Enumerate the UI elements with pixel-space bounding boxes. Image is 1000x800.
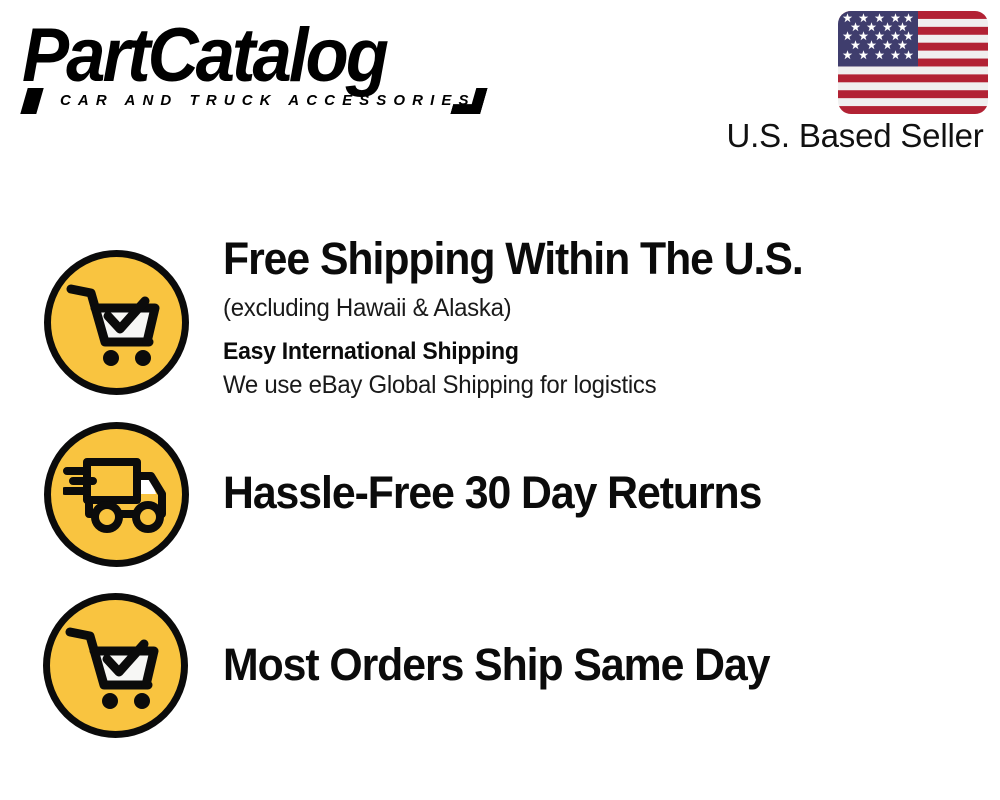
brand-tagline: CAR AND TRUCK ACCESSORIES bbox=[60, 92, 476, 109]
delivery-truck-icon bbox=[44, 422, 189, 567]
promo-banner: PartCatalog CAR AND TRUCK ACCESSORIES bbox=[0, 0, 1000, 800]
brand-logo: PartCatalog CAR AND TRUCK ACCESSORIES bbox=[22, 18, 492, 116]
us-based-seller-label: U.S. Based Seller bbox=[724, 117, 986, 155]
shopping-cart-check-icon bbox=[43, 593, 188, 738]
feature-headline: Free Shipping Within The U.S. bbox=[223, 234, 803, 284]
feature-sub-text: We use eBay Global Shipping for logistic… bbox=[223, 370, 656, 400]
feature-headline: Most Orders Ship Same Day bbox=[223, 640, 769, 690]
feature-headline: Hassle-Free 30 Day Returns bbox=[223, 468, 761, 518]
feature-sub-heading: Easy International Shipping bbox=[223, 337, 519, 367]
shopping-cart-check-icon bbox=[44, 250, 189, 395]
feature-note: (excluding Hawaii & Alaska) bbox=[223, 293, 511, 323]
brand-wordmark: PartCatalog bbox=[22, 12, 386, 99]
us-flag-icon bbox=[838, 11, 988, 114]
